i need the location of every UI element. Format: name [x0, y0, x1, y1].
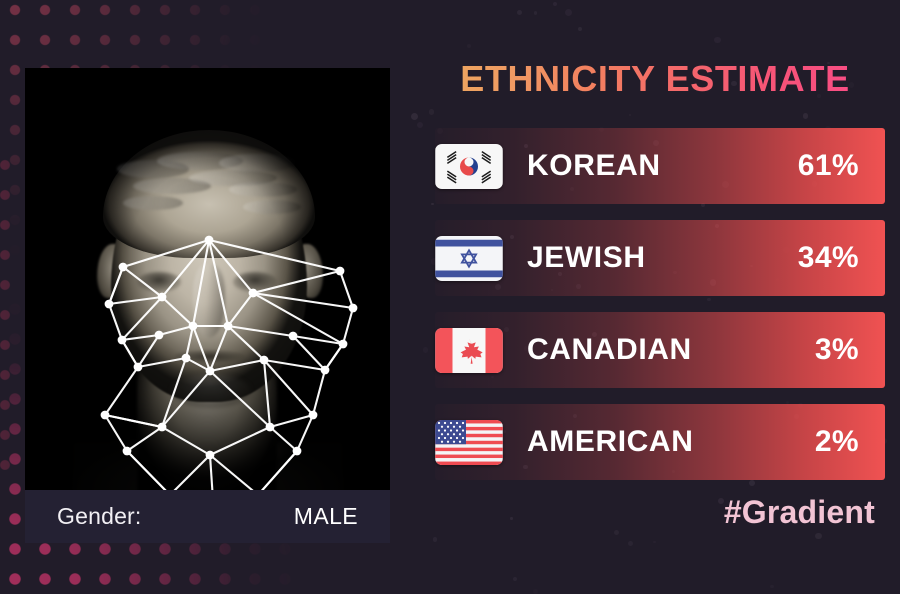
photo-panel: Gender: MALE [25, 68, 390, 543]
table-row: AMERICAN 2% [425, 404, 885, 480]
ethnicity-percent: 34% [798, 241, 859, 275]
flag-south-korea-icon [435, 144, 503, 189]
ethnicity-estimate-card: Gender: MALE ETHNICITY ESTIMATE [0, 0, 900, 594]
ethnicity-percent: 61% [798, 149, 859, 183]
table-row: CANADIAN 3% [425, 312, 885, 388]
ethnicity-name: KOREAN [527, 149, 661, 183]
ethnicity-percent: 3% [815, 333, 859, 367]
face-landmark-mesh-overlay [25, 68, 390, 490]
brand-watermark: #Gradient [724, 494, 875, 531]
flag-united-states-icon [435, 420, 503, 465]
subject-photo [25, 68, 390, 490]
gender-label: Gender: [57, 503, 142, 530]
ethnicity-percent: 2% [815, 425, 859, 459]
flag-israel-icon [435, 236, 503, 281]
flag-canada-icon [435, 328, 503, 373]
ethnicity-name: JEWISH [527, 241, 646, 275]
ethnicity-bar-list: KOREAN 61% [425, 128, 885, 496]
ethnicity-name: CANADIAN [527, 333, 692, 367]
table-row: KOREAN 61% [425, 128, 885, 204]
gender-strip: Gender: MALE [25, 490, 390, 543]
results-column: ETHNICITY ESTIMATE [425, 0, 885, 594]
table-row: JEWISH 34% [425, 220, 885, 296]
ethnicity-name: AMERICAN [527, 425, 693, 459]
gender-value: MALE [294, 503, 358, 530]
page-title: ETHNICITY ESTIMATE [425, 57, 885, 101]
